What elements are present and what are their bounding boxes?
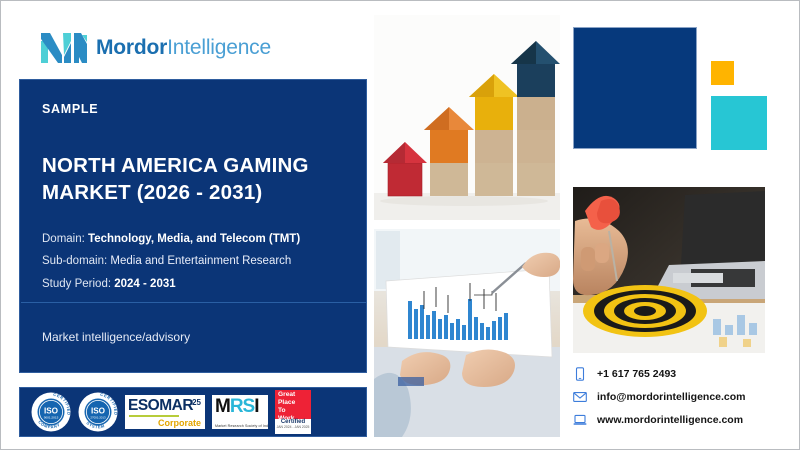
gptw-red-block: Great Place To Work.: [275, 390, 311, 419]
business-meeting-chart-photo: [374, 229, 560, 437]
brand-name-bold: Mordor: [96, 36, 167, 59]
report-info-card: SAMPLE NORTH AMERICA GAMING MARKET (2026…: [19, 79, 367, 373]
mrsi-badge: MRSI Market Research Society of India: [212, 395, 268, 429]
iso-certified-company-badge-icon: ISO 9001:2015 CERTIFIED COMPANY: [31, 392, 71, 432]
dartboard-target-photo: [573, 187, 765, 353]
esomar-badge: ESOMAR 25 Corporate: [125, 395, 205, 429]
page-title: NORTH AMERICA GAMING MARKET (2026 - 2031…: [42, 152, 342, 207]
decorative-cyan-square: [711, 96, 767, 150]
meta-domain: Domain: Technology, Media, and Telecom (…: [42, 228, 352, 250]
advisory-tagline: Market intelligence/advisory: [42, 330, 190, 344]
gptw-certified-block: Certified JAN 2024 - JAN 2025: [275, 419, 311, 434]
contact-row-website[interactable]: www.mordorintelligence.com: [573, 413, 793, 427]
block-houses-illustration-icon: [374, 15, 560, 220]
mrsi-dark1: M: [215, 396, 230, 417]
svg-text:ISO: ISO: [91, 407, 106, 416]
contact-website-text: www.mordorintelligence.com: [597, 414, 743, 426]
certification-badge-bar: ISO 9001:2015 CERTIFIED COMPANY ISO 2700…: [19, 387, 367, 437]
gptw-line1: Great: [275, 390, 311, 398]
wooden-block-houses-photo: [374, 15, 560, 220]
website-icon: [573, 413, 587, 427]
study-period-value: 2024 - 2031: [114, 278, 175, 290]
subdomain-label: Sub-domain:: [42, 255, 107, 267]
svg-text:27001:2013: 27001:2013: [90, 416, 106, 420]
brand-logo: MordorIntelligence: [41, 33, 271, 63]
brand-name-light: Intelligence: [167, 36, 271, 59]
gptw-period: JAN 2024 - JAN 2025: [275, 426, 311, 430]
gptw-line3: To: [275, 406, 311, 414]
meeting-photo-illustration-icon: [374, 229, 560, 437]
contact-info-list: +1 617 765 2493 info@mordorintelligence.…: [573, 367, 793, 427]
left-panel: MordorIntelligence SAMPLE NORTH AMERICA …: [19, 15, 367, 437]
mrsi-subtitle: Market Research Society of India: [215, 424, 268, 428]
domain-label: Domain:: [42, 233, 85, 245]
contact-row-phone[interactable]: +1 617 765 2493: [573, 367, 793, 381]
great-place-to-work-badge: Great Place To Work. Certified JAN 2024 …: [275, 390, 311, 434]
decorative-navy-square: [573, 27, 697, 149]
brand-name: MordorIntelligence: [96, 36, 271, 60]
study-period-label: Study Period:: [42, 278, 111, 290]
contact-phone-text: +1 617 765 2493: [597, 368, 676, 380]
dart-target-illustration-icon: [573, 187, 765, 353]
phone-icon: [573, 367, 587, 381]
card-divider: [21, 302, 367, 303]
svg-text:ISO: ISO: [44, 407, 59, 416]
decorative-orange-square: [711, 61, 734, 85]
gptw-line2: Place: [275, 398, 311, 406]
email-icon: [573, 390, 587, 404]
mordor-m-logo-icon: [41, 33, 87, 63]
subdomain-value: Media and Entertainment Research: [110, 255, 291, 267]
esomar-sup: 25: [192, 398, 201, 407]
esomar-tier: Corporate: [158, 418, 201, 428]
sample-badge: SAMPLE: [42, 102, 98, 116]
mrsi-wordmark: MRSI: [215, 396, 259, 418]
iso-certified-system-badge-icon: ISO 27001:2013 CERTIFIED SYSTEM: [78, 392, 118, 432]
esomar-name: ESOMAR: [128, 397, 193, 415]
svg-text:9001:2015: 9001:2015: [44, 416, 59, 420]
report-cover-page: MordorIntelligence SAMPLE NORTH AMERICA …: [0, 0, 800, 450]
mrsi-dark2: I: [254, 396, 258, 417]
meta-study-period: Study Period: 2024 - 2031: [42, 273, 352, 295]
mrsi-cyan: RS: [230, 396, 254, 417]
esomar-underline: [129, 415, 179, 417]
report-meta: Domain: Technology, Media, and Telecom (…: [42, 228, 352, 295]
contact-row-email[interactable]: info@mordorintelligence.com: [573, 390, 793, 404]
contact-email-text: info@mordorintelligence.com: [597, 391, 746, 403]
meta-subdomain: Sub-domain: Media and Entertainment Rese…: [42, 250, 352, 272]
domain-value: Technology, Media, and Telecom (TMT): [88, 233, 300, 245]
